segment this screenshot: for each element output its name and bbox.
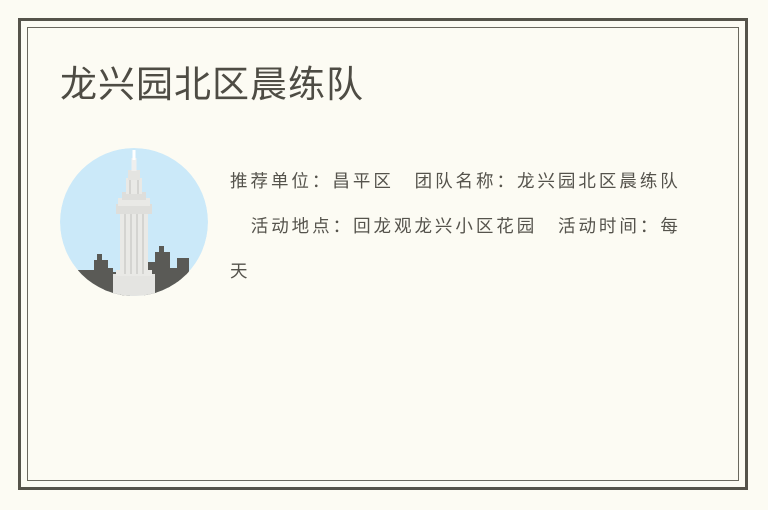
recommend-unit-value: 昌平区 xyxy=(332,172,393,192)
city-skyscraper-illustration xyxy=(60,148,208,296)
page-title: 龙兴园北区晨练队 xyxy=(60,62,364,108)
team-info-card: 龙兴园北区晨练队 xyxy=(0,0,768,510)
team-name-label: 团队名称： xyxy=(414,172,517,192)
card-content-row: 推荐单位：昌平区团队名称：龙兴园北区晨练队活动地点：回龙观龙兴小区花园活动时间：… xyxy=(60,148,680,348)
team-info-text: 推荐单位：昌平区团队名称：龙兴园北区晨练队活动地点：回龙观龙兴小区花园活动时间：… xyxy=(230,160,680,295)
activity-place-value: 回龙观龙兴小区花园 xyxy=(353,217,537,237)
team-name-value: 龙兴园北区晨练队 xyxy=(517,172,680,192)
city-skyscraper-icon xyxy=(60,148,208,296)
activity-time-label: 活动时间： xyxy=(557,217,660,237)
recommend-unit-label: 推荐单位： xyxy=(230,172,332,192)
activity-place-label: 活动地点： xyxy=(250,217,353,237)
